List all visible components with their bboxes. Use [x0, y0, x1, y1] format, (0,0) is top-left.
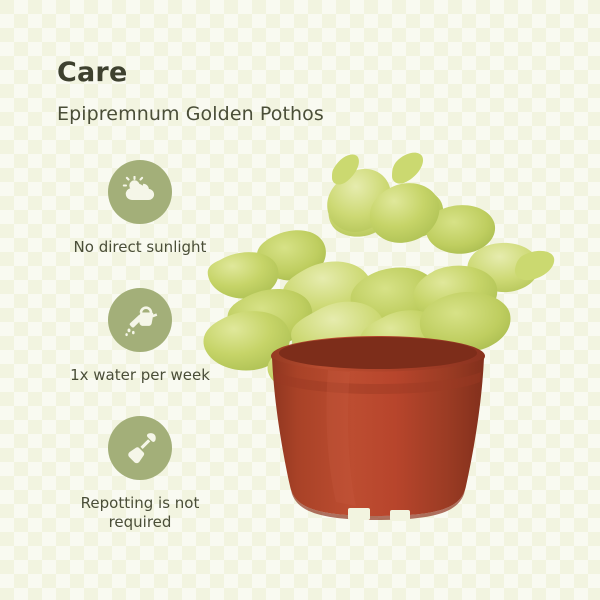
trowel-icon — [122, 430, 158, 466]
care-icon-badge-sunlight — [108, 160, 172, 224]
sun-behind-cloud-icon — [121, 176, 159, 208]
care-icon-badge-repotting — [108, 416, 172, 480]
page-title: Care — [57, 57, 127, 88]
care-item-label: Repotting is not required — [60, 494, 220, 534]
watering-can-icon — [121, 301, 159, 339]
care-item-label: 1x water per week — [70, 366, 210, 386]
page-subtitle: Epipremnum Golden Pothos — [57, 103, 324, 125]
care-item-label: No direct sunlight — [74, 238, 207, 258]
potted-plant-image — [200, 150, 560, 570]
plant-pot — [271, 336, 485, 521]
care-icon-badge-watering — [108, 288, 172, 352]
